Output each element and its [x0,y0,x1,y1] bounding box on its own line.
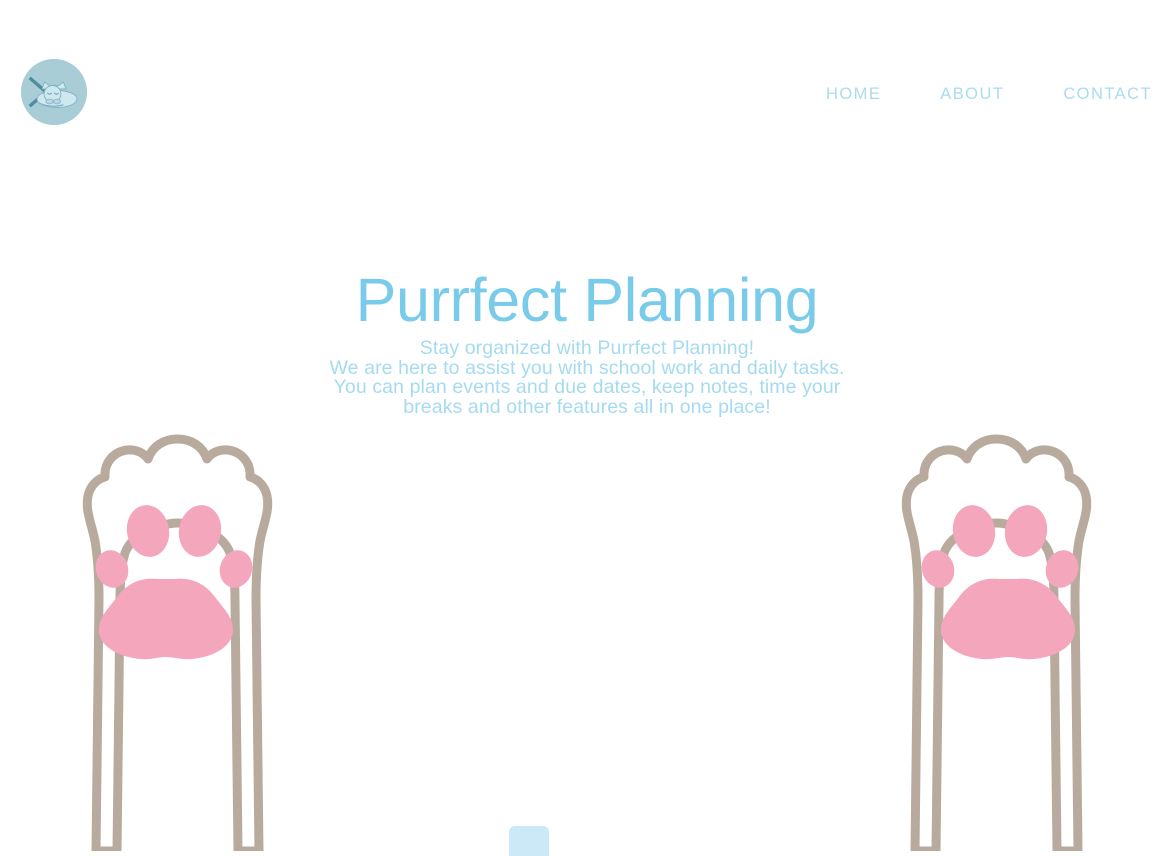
site-header: HOME ABOUT CONTACT [0,0,1173,183]
cat-paw-icon [70,431,285,851]
page-title: Purrfect Planning [287,267,887,333]
cat-paw-left [70,431,285,851]
hero-subtitle-line: You can plan events and due dates, keep … [287,378,887,398]
main-navigation: HOME ABOUT CONTACT [826,83,1152,105]
hero-subtitle: Stay organized with Purrfect Planning! W… [287,339,887,417]
site-logo[interactable] [21,59,87,125]
hero-section: Purrfect Planning Stay organized with Pu… [0,183,1173,654]
nav-link-about[interactable]: ABOUT [940,83,1004,105]
cat-paw-icon [889,431,1104,851]
sleeping-cat-logo-icon [21,59,87,125]
hero-copy: Purrfect Planning Stay organized with Pu… [287,267,887,417]
hero-subtitle-line: Stay organized with Purrfect Planning! [287,339,887,359]
nav-link-contact[interactable]: CONTACT [1063,83,1152,105]
nav-link-home[interactable]: HOME [826,83,881,105]
hero-subtitle-line: breaks and other features all in one pla… [287,398,887,418]
hero-cta-button[interactable] [509,826,549,856]
cat-paw-right [889,431,1104,851]
